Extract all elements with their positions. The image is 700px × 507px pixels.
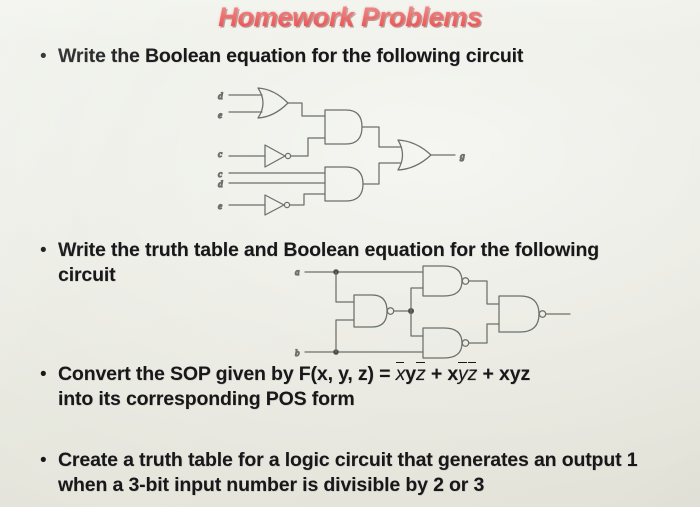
wire-and2-to-or2 bbox=[363, 163, 401, 184]
equation-tail: into its corresponding POS form bbox=[58, 388, 355, 410]
circuit1-input-label-c1: c bbox=[218, 150, 223, 160]
circuit1-input-label-c2: c bbox=[218, 170, 223, 180]
term3-var2: y bbox=[510, 363, 521, 385]
sop-term-2: xyz bbox=[447, 363, 477, 385]
term3-var1: x bbox=[499, 363, 510, 385]
bullet-item-4: • Create a truth table for a logic circu… bbox=[40, 448, 660, 498]
sop-term-3: xyz bbox=[499, 363, 530, 385]
wire-and1-to-or2 bbox=[362, 127, 401, 147]
wire-nand1-to-nand2 bbox=[411, 288, 423, 311]
not-gate-1 bbox=[265, 145, 285, 167]
nand-gate-2-bubble bbox=[462, 278, 468, 284]
bullet-marker: • bbox=[40, 44, 58, 69]
bullet-item-3: • Convert the SOP given by F(x, y, z) = … bbox=[40, 362, 660, 412]
nand-gate-2 bbox=[423, 266, 462, 296]
nand-gate-4-bubble bbox=[539, 311, 545, 317]
wire-b-branch bbox=[336, 320, 354, 352]
circuit-1-svg: d e c c d e bbox=[212, 84, 477, 216]
circuit-2-svg: a b bbox=[292, 262, 577, 360]
and-gate-1 bbox=[325, 110, 362, 144]
sop-term-1: xyz bbox=[396, 363, 426, 385]
term3-var3: z bbox=[520, 363, 530, 385]
nand-gate-3-bubble bbox=[462, 340, 468, 346]
circuit1-output-label-g: g bbox=[460, 152, 465, 162]
circuit1-input-label-e1: e bbox=[218, 111, 222, 121]
logic-circuit-diagram-1: d e c c d e bbox=[212, 84, 477, 221]
logic-circuit-diagram-2: a b bbox=[292, 262, 577, 365]
equation-plus-2: + bbox=[477, 363, 499, 385]
bullet-text-3: Convert the SOP given by F(x, y, z) = xy… bbox=[58, 362, 530, 412]
circuit1-input-label-d1: d bbox=[218, 92, 223, 102]
nand-gate-1 bbox=[354, 295, 387, 327]
slide-canvas: Homework Problems • Write the Boolean eq… bbox=[0, 0, 700, 507]
page-title: Homework Problems bbox=[0, 2, 700, 33]
and-gate-2 bbox=[325, 167, 363, 201]
circuit1-input-label-d2: d bbox=[218, 180, 223, 190]
wire-not1-to-and1 bbox=[291, 138, 325, 156]
wire-a-branch bbox=[336, 272, 354, 302]
circuit1-input-label-e2: e bbox=[218, 202, 222, 212]
bullet-marker: • bbox=[40, 448, 58, 473]
or-gate-1 bbox=[258, 88, 288, 118]
not-gate-1-bubble bbox=[285, 153, 290, 158]
term2-var2-bar: y bbox=[458, 362, 468, 387]
wire-or1-to-and1 bbox=[288, 103, 325, 116]
term1-var3-bar: z bbox=[416, 362, 426, 387]
wire-nand3-to-nand4 bbox=[469, 324, 499, 343]
wire-not2-to-and2 bbox=[290, 194, 325, 205]
bullet-marker: • bbox=[40, 362, 58, 387]
equation-plus-1: + bbox=[426, 363, 448, 385]
circuit2-input-label-b: b bbox=[295, 348, 300, 358]
nand-gate-4 bbox=[499, 296, 539, 332]
not-gate-2-bubble bbox=[284, 202, 289, 207]
wire-nand1-to-nand3 bbox=[411, 311, 423, 336]
bullet-item-1: • Write the Boolean equation for the fol… bbox=[40, 44, 660, 69]
not-gate-2 bbox=[265, 195, 284, 215]
bullet-text-1: Write the Boolean equation for the follo… bbox=[58, 44, 523, 69]
nand-gate-1-bubble bbox=[387, 308, 393, 314]
term1-var1-bar: x bbox=[396, 362, 406, 387]
term2-var1: x bbox=[447, 363, 458, 385]
circuit2-input-label-a: a bbox=[295, 267, 300, 277]
or-gate-2 bbox=[398, 140, 431, 170]
bullet-marker: • bbox=[40, 238, 58, 263]
nand-gate-3 bbox=[423, 328, 462, 358]
bullet-text-4: Create a truth table for a logic circuit… bbox=[58, 448, 660, 498]
term2-var3-bar: z bbox=[468, 362, 478, 387]
term1-var2: y bbox=[405, 363, 416, 385]
equation-lead: Convert the SOP given by F(x, y, z) = bbox=[58, 363, 396, 385]
wire-nand2-to-nand4 bbox=[469, 281, 499, 304]
